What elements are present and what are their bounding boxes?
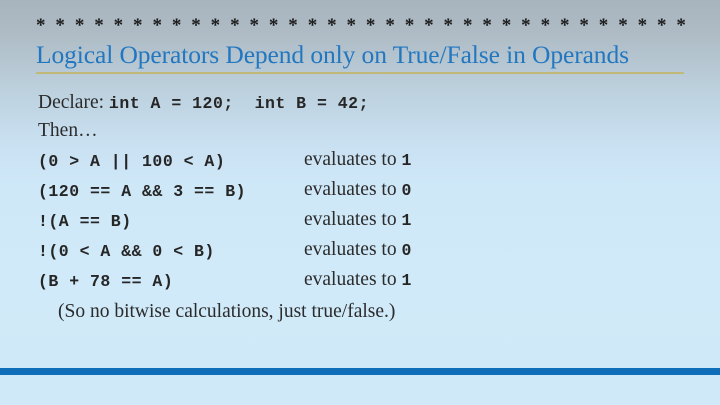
asterisk-icon: * bbox=[657, 14, 667, 38]
asterisk-icon: * bbox=[347, 14, 357, 38]
declare-code-a: int A = 120; bbox=[109, 94, 234, 113]
expression-result: evaluates to 1 bbox=[304, 149, 411, 171]
asterisk-icon: * bbox=[638, 14, 648, 38]
result-value: 1 bbox=[401, 151, 411, 170]
expression-row: !(A == B) evaluates to 1 bbox=[38, 209, 678, 239]
asterisk-icon: * bbox=[385, 14, 395, 38]
expression-row: (0 > A || 100 < A) evaluates to 1 bbox=[38, 149, 678, 179]
asterisk-icon: * bbox=[191, 14, 201, 38]
expression-text: (0 > A || 100 < A) bbox=[38, 152, 225, 171]
page-title: Logical Operators Depend only on True/Fa… bbox=[36, 40, 696, 70]
asterisk-icon: * bbox=[94, 14, 104, 38]
asterisk-icon: * bbox=[366, 14, 376, 38]
asterisk-icon: * bbox=[463, 14, 473, 38]
asterisk-icon: * bbox=[482, 14, 492, 38]
asterisk-icon: * bbox=[579, 14, 589, 38]
asterisk-icon: * bbox=[36, 14, 46, 38]
footer: ECE 120: Introduction to Computing © 201… bbox=[0, 375, 720, 405]
asterisk-icon: * bbox=[230, 14, 240, 38]
footer-accent-bar bbox=[0, 368, 720, 375]
evaluates-label: evaluates to bbox=[304, 239, 397, 260]
asterisk-icon: * bbox=[288, 14, 298, 38]
asterisk-icon: * bbox=[521, 14, 531, 38]
asterisk-icon: * bbox=[327, 14, 337, 38]
declare-label: Declare: bbox=[38, 92, 104, 113]
expression-text: (B + 78 == A) bbox=[38, 272, 173, 291]
expression-result: evaluates to 0 bbox=[304, 239, 411, 261]
slide-body: Declare: int A = 120; int B = 42; Then… … bbox=[0, 88, 720, 358]
expression-result: evaluates to 1 bbox=[304, 209, 411, 231]
asterisk-icon: * bbox=[444, 14, 454, 38]
slide: ********************************** Logic… bbox=[0, 0, 720, 405]
declare-line: Declare: int A = 120; int B = 42; bbox=[38, 92, 369, 114]
evaluates-label: evaluates to bbox=[304, 179, 397, 200]
result-value: 0 bbox=[401, 181, 411, 200]
asterisk-icon: * bbox=[249, 14, 259, 38]
evaluates-label: evaluates to bbox=[304, 269, 397, 290]
expression-text: !(A == B) bbox=[38, 212, 132, 231]
asterisk-icon: * bbox=[502, 14, 512, 38]
asterisk-icon: * bbox=[405, 14, 415, 38]
expression-text: (120 == A && 3 == B) bbox=[38, 182, 246, 201]
expression-result: evaluates to 0 bbox=[304, 179, 411, 201]
asterisk-icon: * bbox=[211, 14, 221, 38]
asterisk-icon: * bbox=[152, 14, 162, 38]
expression-text: !(0 < A && 0 < B) bbox=[38, 242, 215, 261]
asterisk-divider: ********************************** bbox=[36, 14, 686, 38]
evaluates-label: evaluates to bbox=[304, 149, 397, 170]
asterisk-icon: * bbox=[541, 14, 551, 38]
asterisk-icon: * bbox=[269, 14, 279, 38]
summary-note: (So no bitwise calculations, just true/f… bbox=[58, 301, 395, 323]
expression-result: evaluates to 1 bbox=[304, 269, 411, 291]
expression-row: !(0 < A && 0 < B) evaluates to 0 bbox=[38, 239, 678, 269]
asterisk-icon: * bbox=[75, 14, 85, 38]
asterisk-icon: * bbox=[424, 14, 434, 38]
expression-row: (120 == A && 3 == B) evaluates to 0 bbox=[38, 179, 678, 209]
result-value: 0 bbox=[401, 241, 411, 260]
result-value: 1 bbox=[401, 271, 411, 290]
title-underline-rule bbox=[36, 72, 684, 74]
asterisk-icon: * bbox=[133, 14, 143, 38]
asterisk-icon: * bbox=[114, 14, 124, 38]
asterisk-icon: * bbox=[618, 14, 628, 38]
then-label: Then… bbox=[38, 120, 98, 142]
asterisk-icon: * bbox=[560, 14, 570, 38]
asterisk-icon: * bbox=[599, 14, 609, 38]
result-value: 1 bbox=[401, 211, 411, 230]
asterisk-icon: * bbox=[55, 14, 65, 38]
asterisk-icon: * bbox=[676, 14, 686, 38]
expression-row: (B + 78 == A) evaluates to 1 bbox=[38, 269, 678, 299]
declare-code-b: int B = 42; bbox=[255, 94, 369, 113]
asterisk-icon: * bbox=[172, 14, 182, 38]
evaluates-label: evaluates to bbox=[304, 209, 397, 230]
asterisk-icon: * bbox=[308, 14, 318, 38]
